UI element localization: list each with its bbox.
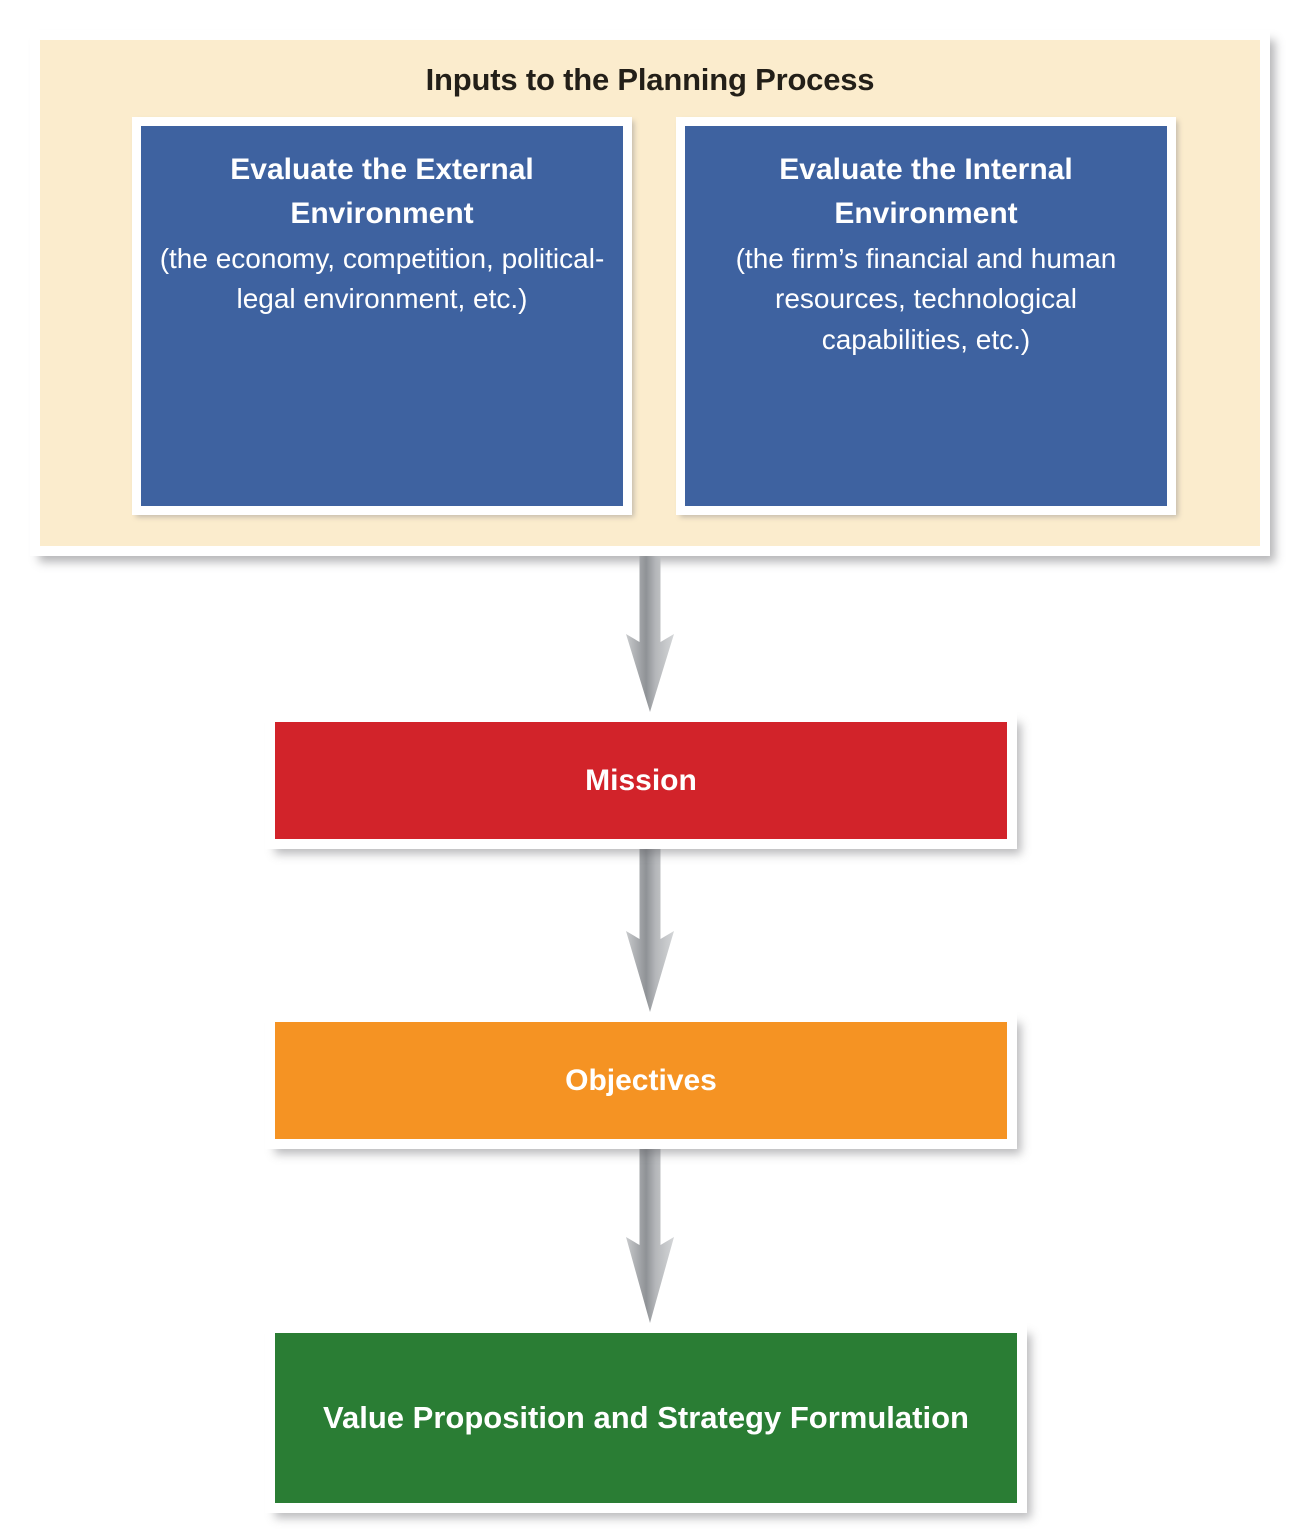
- stage-box-objectives-label: Objectives: [275, 1022, 1007, 1139]
- down-arrow-icon: [612, 1149, 688, 1323]
- input-box-internal-detail: (the firm’s financial and human resource…: [699, 239, 1153, 360]
- inputs-panel-title: Inputs to the Planning Process: [40, 62, 1260, 98]
- inputs-panel-body: Inputs to the Planning Process Evaluate …: [40, 40, 1260, 546]
- input-box-internal-fill: Evaluate the Internal Environment (the f…: [685, 126, 1167, 506]
- input-box-external-heading: Evaluate the External Environment: [155, 148, 609, 235]
- connector-inputs-to-mission: [612, 556, 688, 712]
- input-box-external-detail: (the economy, competition, political-leg…: [155, 239, 609, 320]
- input-box-external-fill: Evaluate the External Environment (the e…: [141, 126, 623, 506]
- stage-box-mission: Mission: [265, 712, 1017, 849]
- input-box-external-environment: Evaluate the External Environment (the e…: [132, 117, 632, 515]
- down-arrow-icon: [612, 556, 688, 712]
- input-box-internal-environment: Evaluate the Internal Environment (the f…: [676, 117, 1176, 515]
- input-boxes-row: Evaluate the External Environment (the e…: [40, 117, 1260, 546]
- connector-objectives-to-value-proposition: [612, 1149, 688, 1323]
- stage-box-mission-label: Mission: [275, 722, 1007, 839]
- stage-box-objectives: Objectives: [265, 1012, 1017, 1149]
- down-arrow-icon: [612, 849, 688, 1012]
- inputs-panel: Inputs to the Planning Process Evaluate …: [30, 30, 1270, 556]
- planning-process-flowchart: Inputs to the Planning Process Evaluate …: [0, 0, 1294, 1536]
- input-box-internal-heading: Evaluate the Internal Environment: [699, 148, 1153, 235]
- connector-mission-to-objectives: [612, 849, 688, 1012]
- stage-box-value-proposition: Value Proposition and Strategy Formulati…: [265, 1323, 1027, 1513]
- stage-box-value-proposition-label: Value Proposition and Strategy Formulati…: [275, 1333, 1017, 1503]
